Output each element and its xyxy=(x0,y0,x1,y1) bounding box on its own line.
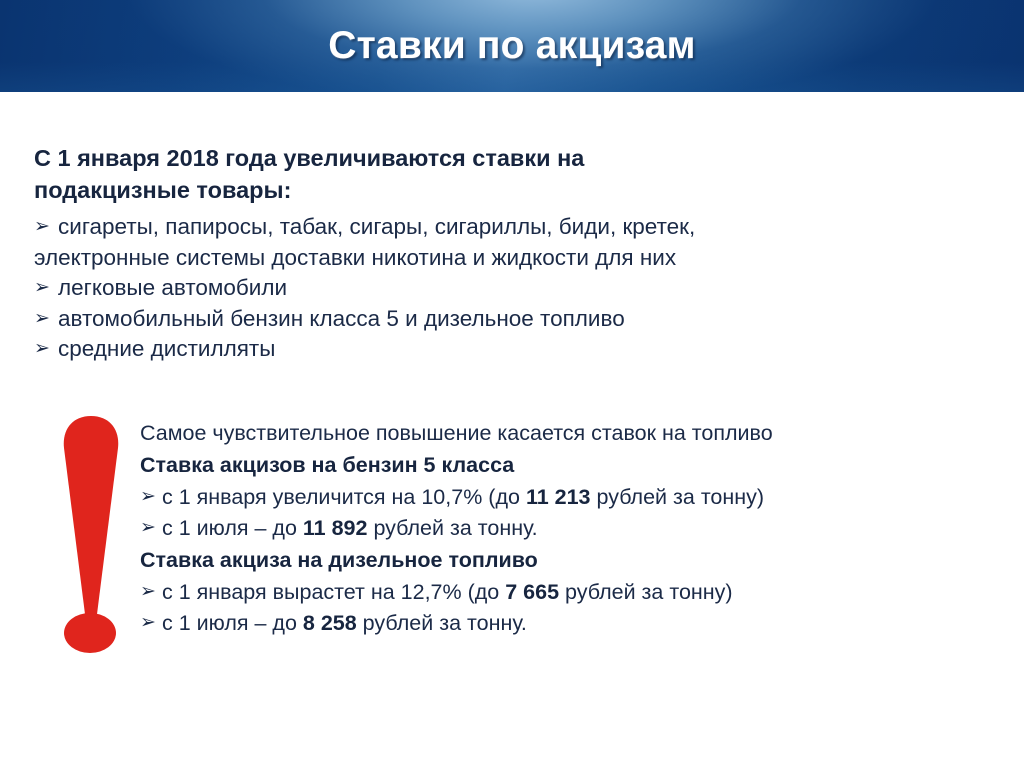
list-item-label: автомобильный бензин класса 5 и дизельно… xyxy=(58,306,625,331)
arrow-bullet-icon: ➢ xyxy=(140,513,156,544)
exclamation-mark-icon xyxy=(52,414,130,654)
fuel-rates-callout: Самое чувствительное повышение касается … xyxy=(140,418,960,640)
arrow-bullet-icon: ➢ xyxy=(140,482,156,513)
list-item: ➢ с 1 января вырастет на 12,7% (до 7 665… xyxy=(140,577,960,608)
list-item-label: легковые автомобили xyxy=(58,275,287,300)
intro-block: С 1 января 2018 года увеличиваются ставк… xyxy=(34,142,734,206)
rate-prefix: с 1 июля – до xyxy=(162,611,303,635)
arrow-bullet-icon: ➢ xyxy=(140,577,156,608)
section-heading-diesel: Ставка акциза на дизельное топливо xyxy=(140,545,960,575)
callout-note: Самое чувствительное повышение касается … xyxy=(140,418,960,448)
rate-prefix: с 1 января увеличится на 10,7% (до xyxy=(162,485,526,509)
rate-suffix: рублей за тонну. xyxy=(367,516,537,540)
section-heading-petrol: Ставка акцизов на бензин 5 класса xyxy=(140,450,960,480)
excisable-goods-list: ➢ сигареты, папиросы, табак, сигары, сиг… xyxy=(34,212,904,365)
rate-prefix: с 1 января вырастет на 12,7% (до xyxy=(162,580,505,604)
page-title: Ставки по акцизам xyxy=(0,24,1024,68)
list-item: ➢ сигареты, папиросы, табак, сигары, сиг… xyxy=(34,212,904,273)
arrow-bullet-icon: ➢ xyxy=(34,273,50,304)
arrow-bullet-icon: ➢ xyxy=(34,304,50,335)
rate-value: 8 258 xyxy=(303,611,357,635)
rate-prefix: с 1 июля – до xyxy=(162,516,303,540)
list-item-label-continued: электронные системы доставки никотина и … xyxy=(34,243,904,274)
slide-header-banner: Ставки по акцизам xyxy=(0,0,1024,92)
intro-lead-text: С 1 января 2018 года увеличиваются ставк… xyxy=(34,142,734,206)
diesel-rate-list: ➢ с 1 января вырастет на 12,7% (до 7 665… xyxy=(140,577,960,638)
rate-suffix: рублей за тонну) xyxy=(559,580,733,604)
rate-value: 7 665 xyxy=(505,580,559,604)
list-item: ➢ с 1 января увеличится на 10,7% (до 11 … xyxy=(140,482,960,513)
arrow-bullet-icon: ➢ xyxy=(34,334,50,365)
petrol-rate-list: ➢ с 1 января увеличится на 10,7% (до 11 … xyxy=(140,482,960,543)
slide-content: С 1 января 2018 года увеличиваются ставк… xyxy=(0,92,1024,767)
rate-suffix: рублей за тонну) xyxy=(591,485,765,509)
list-item: ➢ автомобильный бензин класса 5 и дизель… xyxy=(34,304,904,335)
exclamation-dot xyxy=(64,613,116,653)
list-item-label: средние дистилляты xyxy=(58,336,275,361)
list-item: ➢ с 1 июля – до 8 258 рублей за тонну. xyxy=(140,608,960,639)
list-item-label: сигареты, папиросы, табак, сигары, сигар… xyxy=(58,214,695,239)
list-item: ➢ с 1 июля – до 11 892 рублей за тонну. xyxy=(140,513,960,544)
list-item: ➢ легковые автомобили xyxy=(34,273,904,304)
rate-suffix: рублей за тонну. xyxy=(357,611,527,635)
list-item: ➢ средние дистилляты xyxy=(34,334,904,365)
arrow-bullet-icon: ➢ xyxy=(140,608,156,639)
exclamation-stem xyxy=(64,416,119,634)
rate-value: 11 892 xyxy=(303,516,368,540)
rate-value: 11 213 xyxy=(526,485,591,509)
arrow-bullet-icon: ➢ xyxy=(34,212,50,243)
